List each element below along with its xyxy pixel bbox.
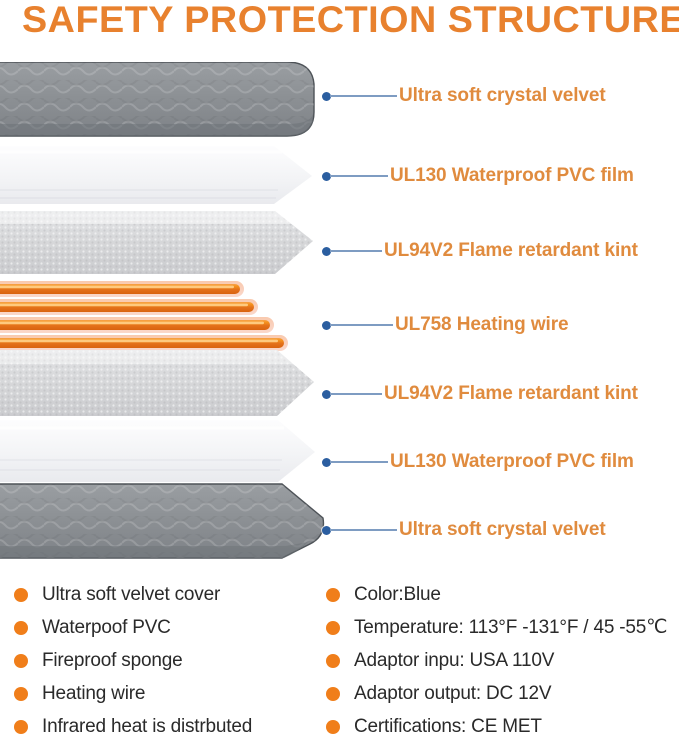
bullet-icon [326, 588, 340, 602]
spec-text: Infrared heat is distrbuted [42, 716, 252, 738]
callout-label: Ultra soft crystal velvet [399, 519, 606, 541]
callout-velvet-bottom: Ultra soft crystal velvet [322, 517, 606, 543]
specifications: Ultra soft velvet cover Waterpoof PVC Fi… [0, 578, 679, 738]
bullet-icon [14, 687, 28, 701]
list-item: Certifications: CE MET [326, 710, 679, 743]
layer-velvet-top [0, 62, 320, 140]
list-item: Temperature: 113°F -131°F / 45 -55℃ [326, 611, 679, 644]
callout-velvet-top: Ultra soft crystal velvet [322, 83, 606, 109]
list-item: Infrared heat is distrbuted [14, 710, 334, 743]
list-item: Adaptor inpu: USA 110V [326, 644, 679, 677]
page-title: SAFETY PROTECTION STRUCTURE [22, 0, 675, 42]
pvc-bottom-shape [0, 416, 320, 488]
list-item: Color:Blue [326, 578, 679, 611]
layer-pvc-bottom [0, 416, 320, 488]
spec-text: Certifications: CE MET [354, 716, 542, 738]
layer-knit-top [0, 208, 320, 280]
layer-stack-diagram: Ultra soft crystal velvet UL130 Waterpro… [0, 44, 679, 574]
layer-pvc-top [0, 142, 320, 210]
spec-text: Adaptor inpu: USA 110V [354, 650, 554, 672]
callout-label: UL758 Heating wire [395, 314, 568, 336]
knit-top-shape [0, 208, 320, 280]
spec-text: Heating wire [42, 683, 145, 705]
bullet-icon [14, 654, 28, 668]
callout-knit-bottom: UL94V2 Flame retardant kint [322, 381, 638, 407]
spec-text: Color:Blue [354, 584, 441, 606]
list-item: Heating wire [14, 677, 334, 710]
bullet-icon [326, 687, 340, 701]
layer-knit-bottom [0, 344, 320, 422]
bullet-icon [14, 588, 28, 602]
callout-leader-line [330, 529, 397, 531]
spec-column-right: Color:Blue Temperature: 113°F -131°F / 4… [326, 578, 679, 743]
callout-label: UL130 Waterproof PVC film [390, 451, 634, 473]
spec-text: Fireproof sponge [42, 650, 182, 672]
callout-heating-wire: UL758 Heating wire [322, 312, 568, 338]
list-item: Adaptor output: DC 12V [326, 677, 679, 710]
callout-label: UL94V2 Flame retardant kint [384, 383, 638, 405]
callout-pvc-bottom: UL130 Waterproof PVC film [322, 449, 634, 475]
spec-text: Ultra soft velvet cover [42, 584, 220, 606]
list-item: Waterpoof PVC [14, 611, 334, 644]
callout-leader-line [330, 393, 382, 395]
bullet-icon [14, 720, 28, 734]
list-item: Fireproof sponge [14, 644, 334, 677]
callout-leader-line [330, 250, 382, 252]
velvet-top-shape [0, 62, 320, 140]
bullet-icon [326, 621, 340, 635]
layer-velvet-bottom [0, 480, 332, 564]
spec-column-left: Ultra soft velvet cover Waterpoof PVC Fi… [14, 578, 334, 743]
velvet-bottom-shape [0, 480, 332, 564]
callout-label: UL94V2 Flame retardant kint [384, 240, 638, 262]
spec-text: Waterpoof PVC [42, 617, 171, 639]
callout-leader-line [330, 175, 388, 177]
bullet-icon [14, 621, 28, 635]
knit-bottom-shape [0, 344, 320, 422]
callout-label: Ultra soft crystal velvet [399, 85, 606, 107]
callout-leader-line [330, 324, 393, 326]
callout-label: UL130 Waterproof PVC film [390, 165, 634, 187]
bullet-icon [326, 720, 340, 734]
bullet-icon [326, 654, 340, 668]
callout-leader-line [330, 95, 397, 97]
pvc-top-shape [0, 142, 320, 210]
spec-text: Temperature: 113°F -131°F / 45 -55℃ [354, 616, 667, 639]
callout-pvc-top: UL130 Waterproof PVC film [322, 163, 634, 189]
callout-knit-top: UL94V2 Flame retardant kint [322, 238, 638, 264]
spec-text: Adaptor output: DC 12V [354, 683, 551, 705]
callout-leader-line [330, 461, 388, 463]
list-item: Ultra soft velvet cover [14, 578, 334, 611]
